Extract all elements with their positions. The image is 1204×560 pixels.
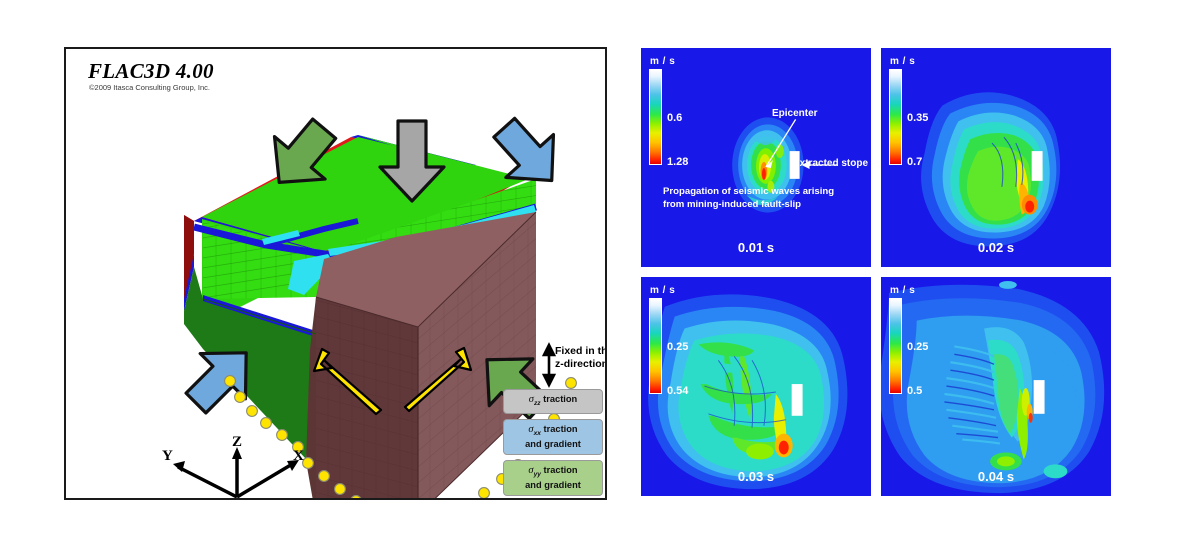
legend-item-sigma-xx: σxx traction and gradient [503, 419, 603, 455]
seismic-caption: Propagation of seismic waves arising fro… [663, 186, 853, 211]
colorbar-tick-mid-4: 0.25 [907, 341, 928, 353]
legend-item-sigma-zz: σzz traction [503, 389, 603, 414]
seismic-caption-line1: Propagation of seismic waves arising [663, 186, 853, 199]
seismic-caption-line2: from mining-induced fault-slip [663, 199, 853, 212]
colorbar-gradient-1: 0.6 1.28 [649, 69, 662, 165]
colorbar-gradient-3: 0.25 0.54 [649, 298, 662, 394]
axis-label-x: X [293, 448, 304, 465]
colorbar-unit-1: m / s [650, 56, 703, 67]
colorbar-tick-mid-3: 0.25 [667, 341, 688, 353]
colorbar-4: m / s 0.25 0.5 [889, 285, 943, 394]
axis-label-z: Z [232, 434, 242, 451]
seismic-panel-2[interactable]: m / s 0.35 0.7 0.02 s [880, 47, 1112, 268]
boundary-condition-legend: σzz traction σxx traction and gradient σ… [503, 389, 603, 500]
legend-sub-xx: xx [534, 430, 541, 437]
time-label-1: 0.01 s [641, 240, 871, 255]
axis-label-y: Y [162, 448, 173, 465]
colorbar-3: m / s 0.25 0.54 [649, 285, 703, 394]
legend-text-xx-2: and gradient [507, 439, 599, 450]
colorbar-tick-max-1: 1.28 [667, 156, 688, 168]
legend-text-xx-1: traction [544, 424, 578, 434]
colorbar-1: m / s 0.6 1.28 [649, 56, 703, 165]
legend-text-yy-1: traction [544, 465, 578, 475]
fixed-z-arrow [544, 345, 554, 385]
colorbar-unit-3: m / s [650, 285, 703, 296]
fixed-in-z-label: Fixed in the z-direction [555, 345, 607, 370]
seismic-panel-grid: m / s 0.6 1.28 Epicenter Extracted stope… [640, 47, 1112, 500]
colorbar-gradient-4: 0.25 0.5 [889, 298, 902, 394]
legend-sub-zz: zz [534, 400, 541, 407]
extracted-stope-4 [1034, 380, 1045, 414]
legend-sub-yy: yy [534, 471, 541, 478]
colorbar-tick-mid-1: 0.6 [667, 112, 682, 124]
fixed-in-z-line1: Fixed in the [555, 345, 607, 358]
legend-text-yy-2: and gradient [507, 480, 599, 491]
colorbar-unit-2: m / s [890, 56, 943, 67]
legend-text-zz: traction [543, 394, 577, 404]
epicenter-label-1: Epicenter [772, 108, 818, 119]
colorbar-tick-max-4: 0.5 [907, 385, 922, 397]
time-label-4: 0.04 s [881, 469, 1111, 484]
colorbar-tick-mid-2: 0.35 [907, 112, 928, 124]
seismic-panel-4[interactable]: m / s 0.25 0.5 0.04 s [880, 276, 1112, 497]
extracted-stope-label-1: Extracted stope [793, 158, 868, 169]
time-label-3: 0.03 s [641, 469, 871, 484]
seismic-panel-3[interactable]: m / s 0.25 0.54 0.03 s [640, 276, 872, 497]
extracted-stope-2 [1032, 151, 1043, 181]
colorbar-gradient-2: 0.35 0.7 [889, 69, 902, 165]
flac3d-model-panel: FLAC3D 4.00 ©2009 Itasca Consulting Grou… [64, 47, 607, 500]
colorbar-2: m / s 0.35 0.7 [889, 56, 943, 165]
time-label-2: 0.02 s [881, 240, 1111, 255]
seismic-panel-1[interactable]: m / s 0.6 1.28 Epicenter Extracted stope… [640, 47, 872, 268]
fixed-in-z-line2: z-direction [555, 358, 607, 371]
colorbar-tick-max-2: 0.7 [907, 156, 922, 168]
colorbar-tick-max-3: 0.54 [667, 385, 688, 397]
legend-item-sigma-yy: σyy traction and gradient [503, 460, 603, 496]
extracted-stope-3 [792, 384, 803, 416]
colorbar-unit-4: m / s [890, 285, 943, 296]
